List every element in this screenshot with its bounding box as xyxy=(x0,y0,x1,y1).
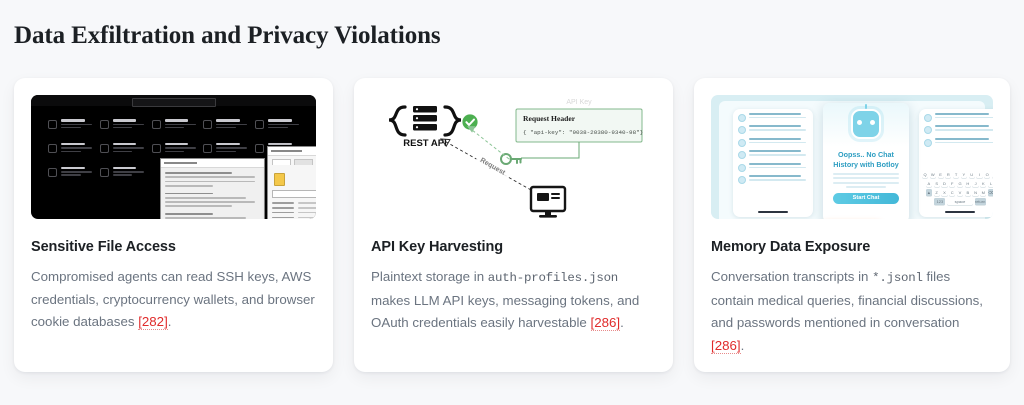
mockup-backdrop: Oopss.. No Chat History with Botloy Star… xyxy=(719,101,985,219)
display-icon xyxy=(100,120,109,129)
list-item[interactable] xyxy=(919,134,993,147)
card-title: Memory Data Exposure xyxy=(711,239,993,255)
thumbnail-api-key-diagram[interactable]: REST API Request Header { "api-key": "90… xyxy=(371,95,656,219)
empty-state-line2: History with Botloy xyxy=(833,160,899,169)
empty-state-headline: Oopss.. No Chat History with Botloy xyxy=(823,147,909,169)
list-item[interactable] xyxy=(733,172,813,185)
thumb1-panel xyxy=(35,108,312,213)
chat-bubble-icon xyxy=(738,114,746,122)
card-body: Plaintext storage in auth-profiles.json … xyxy=(371,266,656,335)
chat-bubble-icon xyxy=(924,114,932,122)
list-item[interactable] xyxy=(733,134,813,147)
client-monitor-icon xyxy=(531,187,565,218)
home-indicator xyxy=(758,211,788,213)
tab-general[interactable] xyxy=(272,159,291,165)
settings-grid-item xyxy=(203,119,250,130)
accessibility-icon xyxy=(203,144,212,153)
chat-bubble-icon xyxy=(738,164,746,172)
settings-grid-item xyxy=(152,143,199,154)
onscreen-keyboard[interactable]: QWERTYUIOP ASDFGHJKL ▲ZXCVBNM⌫ 123spacer… xyxy=(922,171,993,207)
clipped-label-above-header: API Key xyxy=(566,99,592,106)
thumbnail-phone-mockups[interactable]: Oopss.. No Chat History with Botloy Star… xyxy=(711,95,993,219)
thumbnail-dark-settings-screenshot[interactable] xyxy=(31,95,316,219)
request-header-title: Request Header xyxy=(523,114,576,123)
card-title: Sensitive File Access xyxy=(31,239,316,255)
list-item[interactable] xyxy=(919,109,993,122)
request-arrow-label-group: Request xyxy=(475,152,512,180)
backspace-key[interactable]: ⌫ xyxy=(988,189,993,196)
numbers-key[interactable]: 123 xyxy=(934,198,945,205)
card-body-prefix: Conversation transcripts in xyxy=(711,269,872,284)
list-item[interactable] xyxy=(919,122,993,135)
settings-grid-item xyxy=(100,143,147,154)
citation-link[interactable]: [286] xyxy=(591,315,621,331)
header-connector-line xyxy=(521,142,579,158)
green-request-arrow xyxy=(467,126,509,159)
chat-bubble-icon xyxy=(738,176,746,184)
card-body-suffix: . xyxy=(741,338,745,353)
settings-grid-item xyxy=(48,167,95,178)
search-icon xyxy=(255,144,264,153)
card-body-text: Compromised agents can read SSH keys, AW… xyxy=(31,269,315,329)
settings-grid-item xyxy=(48,119,95,130)
settings-grid-item xyxy=(100,119,147,130)
api-diagram-svg: REST API Request Header { "api-key": "90… xyxy=(371,95,656,219)
settings-grid-item xyxy=(255,119,302,130)
phone-mockup-left[interactable] xyxy=(733,109,813,217)
accounts-icon xyxy=(48,144,57,153)
list-item[interactable] xyxy=(733,147,813,160)
home-indicator xyxy=(945,211,975,213)
filename-field[interactable] xyxy=(272,190,316,198)
card-body-suffix: . xyxy=(168,314,172,329)
dialog-titlebar xyxy=(268,147,316,156)
gaming-icon xyxy=(152,144,161,153)
keyboard-row: ASDFGHJKL xyxy=(922,180,993,187)
tab-security[interactable] xyxy=(294,159,313,165)
card-body-code: *.jsonl xyxy=(872,271,923,285)
server-stack-icon xyxy=(413,106,437,131)
file-icon xyxy=(274,173,285,186)
shift-key[interactable]: ▲ xyxy=(926,189,932,196)
bot-avatar-icon xyxy=(851,109,881,139)
card-memory-data-exposure[interactable]: Oopss.. No Chat History with Botloy Star… xyxy=(694,78,1010,372)
space-key[interactable]: space xyxy=(947,198,973,205)
chat-bubble-icon xyxy=(738,139,746,147)
phone-mockup-right[interactable]: QWERTYUIOP ASDFGHJKL ▲ZXCVBNM⌫ 123spacer… xyxy=(919,109,993,217)
dialog-tabs[interactable] xyxy=(268,156,316,167)
citation-link[interactable]: [282] xyxy=(138,314,168,330)
file-attributes-dialog[interactable] xyxy=(160,158,265,219)
list-item[interactable] xyxy=(733,122,813,135)
empty-state-illustration xyxy=(823,103,909,147)
file-properties-dialog[interactable] xyxy=(267,146,316,219)
chat-bubble-icon xyxy=(738,151,746,159)
update-icon xyxy=(100,168,109,177)
empty-state-description xyxy=(823,169,909,188)
list-item[interactable] xyxy=(733,159,813,172)
settings-grid-item xyxy=(203,143,250,154)
chat-bubble-icon xyxy=(738,126,746,134)
card-title: API Key Harvesting xyxy=(371,239,656,255)
page-title: Data Exfiltration and Privacy Violations xyxy=(14,22,441,50)
bell-icon xyxy=(48,120,57,129)
rest-api-label: REST API xyxy=(403,138,446,149)
card-body-suffix: . xyxy=(620,315,624,330)
card-body-code: auth-profiles.json xyxy=(488,271,618,285)
privacy-icon xyxy=(48,168,57,177)
settings-grid-item xyxy=(152,119,199,130)
settings-grid-item xyxy=(100,167,147,178)
card-body: Conversation transcripts in *.jsonl file… xyxy=(711,266,993,357)
empty-state-line1: Oopss.. No Chat xyxy=(838,150,894,159)
card-sensitive-file-access[interactable]: Sensitive File Access Compromised agents… xyxy=(14,78,333,372)
chat-bubble-icon xyxy=(924,126,932,134)
card-body-prefix: Plaintext storage in xyxy=(371,269,488,284)
card-grid: Sensitive File Access Compromised agents… xyxy=(14,78,1010,372)
chat-bubble-icon xyxy=(924,139,932,147)
phone-mockup-center[interactable]: Oopss.. No Chat History with Botloy Star… xyxy=(823,103,909,219)
settings-grid-item xyxy=(48,143,95,154)
keyboard-row: 123spacereturn xyxy=(922,198,993,205)
network-icon xyxy=(152,120,161,129)
keyboard-row: QWERTYUIOP xyxy=(922,171,993,178)
personalization-icon xyxy=(203,120,212,129)
page-root: Data Exfiltration and Privacy Violations xyxy=(0,0,1024,405)
request-header-box: Request Header { "api-key": "9038-20380-… xyxy=(516,109,643,142)
card-body: Compromised agents can read SSH keys, AW… xyxy=(31,266,316,334)
language-icon xyxy=(100,144,109,153)
list-item[interactable] xyxy=(733,109,813,122)
keyboard-row: ▲ZXCVBNM⌫ xyxy=(922,189,993,196)
dialog-titlebar xyxy=(161,159,264,168)
citation-link[interactable]: [286] xyxy=(711,338,741,354)
apps-icon xyxy=(255,120,264,129)
start-chat-button[interactable]: Start Chat xyxy=(833,193,899,204)
return-key[interactable]: return xyxy=(975,198,986,205)
request-header-code: { "api-key": "9038-20380-9340-98"} xyxy=(523,129,643,136)
card-api-key-harvesting[interactable]: REST API Request Header { "api-key": "90… xyxy=(354,78,673,372)
thumb1-search-field xyxy=(132,98,216,107)
